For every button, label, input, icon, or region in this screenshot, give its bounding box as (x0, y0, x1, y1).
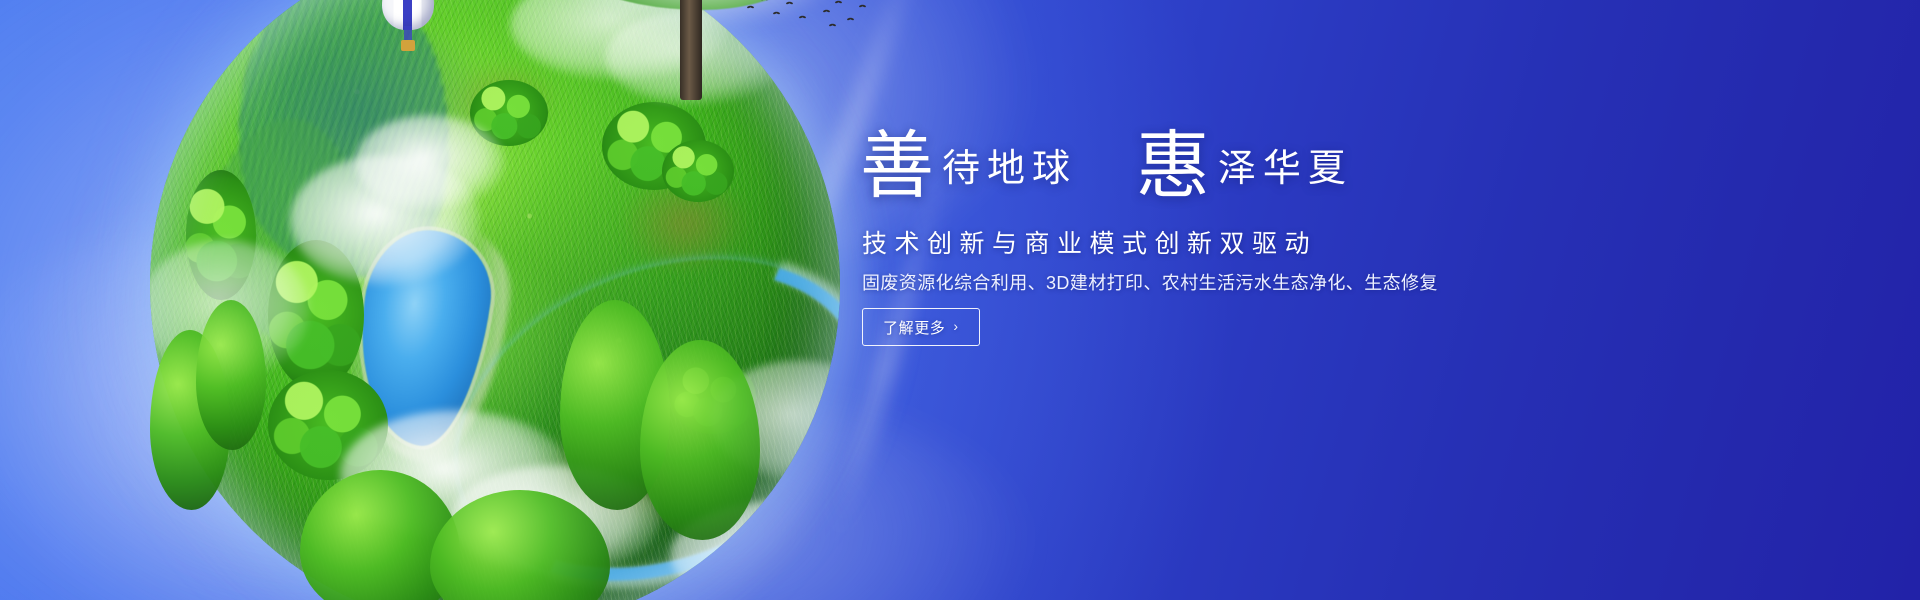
bird (799, 16, 805, 19)
bird (847, 18, 853, 21)
bird (823, 10, 829, 13)
banner-content: 善待地球 惠泽华夏 技术创新与商业模式创新双驱动 固废资源化综合利用、3D建材打… (860, 0, 1560, 600)
bird (761, 0, 767, 1)
tagline: 固废资源化综合利用、3D建材打印、农村生活污水生态净化、生态修复 (862, 270, 1562, 296)
headline-segment-1: 善待地球 (860, 130, 1077, 204)
hot-air-balloon (382, 0, 434, 60)
subtitle: 技术创新与商业模式创新双驱动 (862, 228, 1562, 260)
bird (773, 12, 779, 15)
headline: 善待地球 惠泽华夏 (860, 130, 1560, 222)
birds-flock (745, 0, 875, 34)
bird (829, 24, 835, 27)
learn-more-label: 了解更多 (883, 317, 945, 338)
tree-trunk (680, 0, 702, 100)
balloon-neck (404, 26, 412, 40)
chevron-right-icon: › (953, 318, 958, 334)
headline-big-char-2: 惠 (1136, 126, 1210, 208)
headline-small-text-1: 待地球 (942, 148, 1077, 190)
balloon-basket (401, 40, 415, 51)
bird (835, 1, 841, 4)
bird (747, 6, 753, 9)
headline-small-text-2: 泽华夏 (1218, 148, 1353, 190)
headline-big-char-1: 善 (860, 126, 934, 208)
bird (786, 2, 792, 5)
learn-more-button[interactable]: 了解更多 › (862, 308, 980, 346)
hero-banner: 善待地球 惠泽华夏 技术创新与商业模式创新双驱动 固废资源化综合利用、3D建材打… (0, 0, 1920, 600)
headline-segment-2: 惠泽华夏 (1136, 130, 1353, 204)
